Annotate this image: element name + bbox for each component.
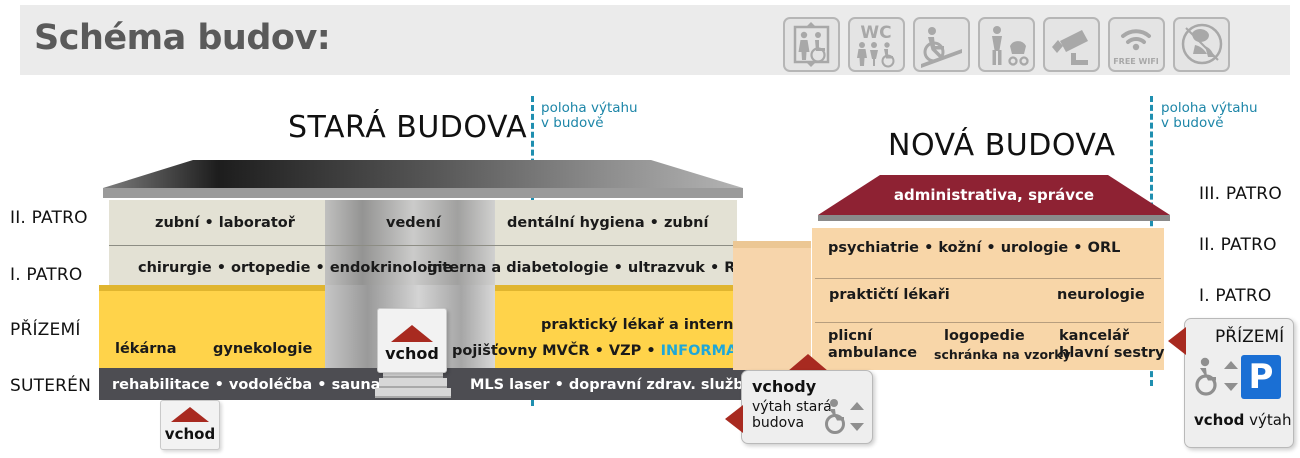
new-ground-right-2: hlavní sestry	[1059, 345, 1165, 361]
stroller-icon[interactable]	[978, 17, 1035, 72]
new-floor-divider	[815, 278, 1161, 279]
elevator-note-line2: v budově	[541, 116, 638, 131]
callout-line1: výtah stará	[752, 399, 832, 415]
callout-footer-bold: vchod	[1194, 411, 1244, 429]
new-floor1-left: praktičtí lékaři	[829, 287, 950, 303]
new-floor-divider	[815, 322, 1161, 323]
insurance-text: pojišťovny MVČR • VZP •	[452, 343, 661, 359]
wheelchair-elevator-icon	[1193, 355, 1241, 399]
connector-block	[733, 248, 811, 370]
new-floor1-right: neurologie	[1057, 287, 1145, 303]
old-building-main-entrance[interactable]: vchod	[377, 308, 447, 373]
elevator-note-old: poloha výtahu v budově	[541, 101, 638, 131]
old-floor2-left: zubní • laboratoř	[155, 215, 295, 231]
callout-footer-rest: výtah	[1244, 411, 1291, 429]
new-ground-left-2: ambulance	[828, 345, 917, 361]
elevator-note-line1: poloha výtahu	[541, 101, 638, 116]
old-ground-pharmacy: lékárna	[115, 341, 177, 357]
old-floor1-left: chirurgie • ortopedie • endokrinologie	[138, 260, 453, 276]
new-floor-label-3: III. PATRO	[1199, 184, 1282, 204]
new-building-title: NOVÁ BUDOVA	[888, 128, 1116, 163]
schema-diagram: Schéma budov: WC	[0, 0, 1300, 458]
old-ground-gynecology: gynekologie	[213, 341, 312, 357]
arrow-up-icon	[171, 407, 209, 422]
entrances-callout[interactable]: vchody výtah stará budova	[741, 370, 873, 444]
old-floor-label-basement: SUTERÉN	[10, 376, 91, 396]
callout-title: PŘÍZEMÍ	[1215, 327, 1284, 347]
old-building-secondary-entrance[interactable]: vchod	[160, 400, 220, 450]
old-ground-gp: praktický lékař a interna	[541, 317, 743, 333]
elevator-icon[interactable]	[783, 17, 840, 72]
header-bar: Schéma budov: WC	[20, 5, 1290, 75]
old-floor2-right: dentální hygiena • zubní	[507, 215, 708, 231]
elevator-note-new: poloha výtahu v budově	[1161, 101, 1258, 131]
arrow-left-icon	[1168, 327, 1186, 355]
arrow-left-icon	[725, 405, 743, 433]
old-floor1-right: interna a diabetologie • ultrazvuk • RTG	[427, 260, 757, 276]
old-building-title: STARÁ BUDOVA	[288, 110, 527, 145]
arrow-up-icon	[788, 354, 828, 371]
entrance-label: vchod	[161, 425, 219, 443]
old-floor-label-2: II. PATRO	[10, 208, 88, 228]
callout-line2: budova	[752, 415, 832, 431]
ground-floor-callout[interactable]: PŘÍZEMÍ P vchod výtah	[1184, 318, 1294, 448]
wc-label: WC	[860, 23, 891, 43]
parking-sign: P	[1241, 355, 1281, 399]
wifi-label: FREE WIFI	[1113, 57, 1159, 66]
entrance-label: vchod	[378, 344, 446, 363]
new-floor-label-1: I. PATRO	[1199, 286, 1271, 306]
new-ground-center-2: schránka na vzorky	[934, 347, 1071, 362]
old-floor-label-ground: PŘÍZEMÍ	[10, 320, 81, 340]
old-ground-insurance: pojišťovny MVČR • VZP • INFORMACE	[452, 343, 758, 359]
amenity-icon-row: WC	[783, 17, 1230, 72]
page-title: Schéma budov:	[34, 18, 330, 58]
new-roof-label: administrativa, správce	[818, 186, 1170, 204]
callout-footer: vchod výtah	[1194, 411, 1292, 429]
old-floor-label-1: I. PATRO	[10, 265, 82, 285]
free-wifi-icon[interactable]: FREE WIFI	[1108, 17, 1165, 72]
new-floor-label-2: II. PATRO	[1199, 235, 1277, 255]
wheelchair-elevator-icon	[824, 397, 868, 437]
nursing-room-icon[interactable]	[1173, 17, 1230, 72]
new-ground-right-1: kancelář	[1059, 328, 1129, 344]
new-ground-center-1: logopedie	[944, 328, 1025, 344]
wheelchair-ramp-icon[interactable]	[913, 17, 970, 72]
callout-text: výtah stará budova	[752, 399, 832, 431]
parking-letter: P	[1241, 357, 1281, 397]
new-ground-left-1: plicní	[828, 328, 872, 344]
elevator-note-line1: poloha výtahu	[1161, 101, 1258, 116]
cctv-camera-icon[interactable]	[1043, 17, 1100, 72]
old-floor-divider	[109, 245, 737, 246]
old-floor2-center: vedení	[386, 215, 441, 231]
callout-title: vchody	[752, 377, 816, 396]
old-basement-left: rehabilitace • vodoléčba • sauna	[112, 377, 380, 393]
wc-icon[interactable]: WC	[848, 17, 905, 72]
new-floor2-text: psychiatrie • kožní • urologie • ORL	[828, 240, 1120, 256]
arrow-up-icon	[391, 325, 433, 342]
old-building-roof	[103, 160, 743, 202]
elevator-note-line2: v budově	[1161, 116, 1258, 131]
old-basement-right: MLS laser • dopravní zdrav. služba	[470, 377, 753, 393]
